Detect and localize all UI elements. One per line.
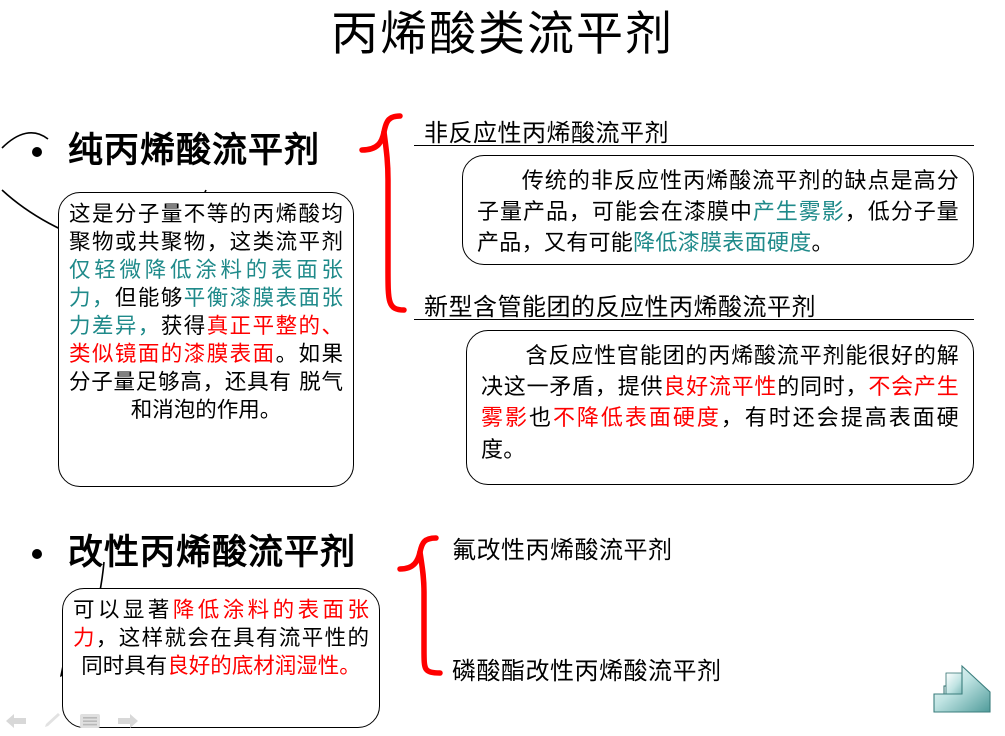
- run-red-3: 。: [339, 654, 361, 679]
- run-black-3: 获得: [161, 314, 207, 339]
- red-brace-top: [362, 116, 404, 310]
- bullet-dot-section-one: [32, 147, 42, 157]
- run-red-2: 良好的底材润湿性: [167, 654, 339, 679]
- run-teal-2: ，: [92, 286, 115, 311]
- run-black-1: 这是分子量不等的丙烯酸均聚物或共聚物，这类流平剂: [69, 202, 343, 255]
- previous-slide-arrow-icon[interactable]: [4, 712, 28, 730]
- red-brace-bottom: [400, 538, 440, 673]
- run-black-2: 但能够: [115, 286, 184, 311]
- pen-tool-icon[interactable]: [42, 712, 64, 730]
- run-black-1: 可以显著: [73, 598, 173, 623]
- modified-acrylic-description-box: 可以显著降低涂料的表面张力，这样就会在具有流平性的同时具有良好的底材润湿性。: [62, 588, 380, 728]
- branch-heading-reactive: 新型含管能团的反应性丙烯酸流平剂: [424, 287, 816, 322]
- modified-acrylic-description-text: 可以显著降低涂料的表面张力，这样就会在具有流平性的同时具有良好的底材润湿性。: [63, 589, 379, 687]
- reactive-detail-box: 含反应性官能团的丙烯酸流平剂能很好的解决这一矛盾，提供良好流平性的同时，不会产生…: [466, 330, 974, 485]
- run-black-2: 的同时，: [777, 375, 868, 400]
- run-teal-2: 降低漆膜表面硬度: [633, 231, 811, 256]
- pure-acrylic-description-text: 这是分子量不等的丙烯酸均聚物或共聚物，这类流平剂仅轻微降低涂料的表面张力，但能够…: [59, 193, 353, 431]
- branch-heading-fluorine-modified: 氟改性丙烯酸流平剂: [452, 530, 673, 565]
- bullet-dot-section-two: [32, 549, 42, 559]
- reactive-detail-text: 含反应性官能团的丙烯酸流平剂能很好的解决这一矛盾，提供良好流平性的同时，不会产生…: [467, 331, 973, 474]
- run-teal-1: 产生雾影: [753, 200, 845, 225]
- run-black-3: 。: [812, 231, 834, 256]
- section-two-heading: 改性丙烯酸流平剂: [68, 524, 356, 575]
- pure-acrylic-description-box: 这是分子量不等的丙烯酸均聚物或共聚物，这类流平剂仅轻微降低涂料的表面张力，但能够…: [58, 192, 354, 487]
- menu-lines-icon[interactable]: [78, 712, 102, 730]
- presentation-nav-strip[interactable]: [4, 708, 140, 734]
- branch-heading-phosphate-modified: 磷酸酯改性丙烯酸流平剂: [452, 651, 722, 686]
- branch-heading-non-reactive-rule: [414, 145, 974, 146]
- run-red-3: 不降低表面硬度: [553, 406, 721, 431]
- run-black-3: 也: [529, 406, 553, 431]
- run-red-1: 良好流平性: [663, 375, 777, 400]
- slide-title: 丙烯酸类流平剂: [0, 8, 1005, 62]
- non-reactive-detail-text: 传统的非反应性丙烯酸流平剂的缺点是高分子量产品，可能会在漆膜中产生雾影，低分子量…: [463, 156, 973, 268]
- next-slide-arrow-icon[interactable]: [116, 712, 140, 730]
- branch-heading-reactive-rule: [414, 319, 974, 320]
- section-one-heading: 纯丙烯酸流平剂: [68, 122, 320, 173]
- non-reactive-detail-box: 传统的非反应性丙烯酸流平剂的缺点是高分子量产品，可能会在漆膜中产生雾影，低分子量…: [462, 155, 974, 265]
- home-arrow-shape: [934, 666, 990, 712]
- branch-heading-non-reactive: 非反应性丙烯酸流平剂: [424, 113, 669, 148]
- slide-canvas: 丙烯酸类流平剂 纯丙烯酸流平剂 这是分子量不等的丙烯酸均聚物或共聚物，这类流平剂…: [0, 0, 1005, 736]
